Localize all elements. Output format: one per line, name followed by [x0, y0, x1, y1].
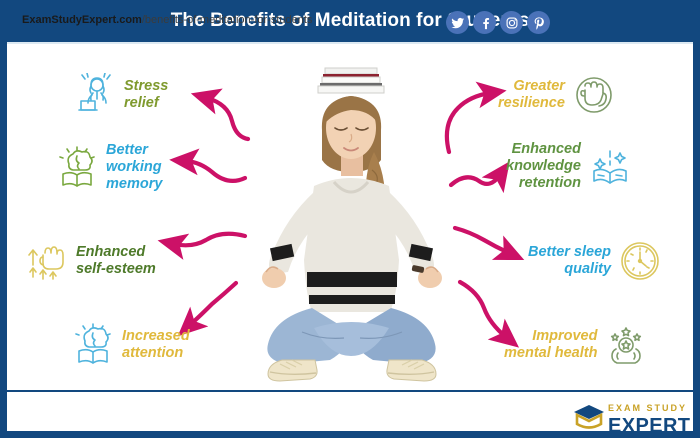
meditating-student-photo — [252, 60, 452, 390]
logo-text: EXAM STUDY EXPERT — [608, 398, 694, 437]
social-links — [446, 11, 550, 34]
footer-url[interactable]: ExamStudyExpert.com/benefits-of-meditati… — [22, 14, 312, 26]
footer-url-brand: ExamStudyExpert.com — [22, 14, 142, 26]
facebook-icon[interactable] — [473, 11, 496, 34]
benefit-label: Enhanced knowledge retention — [506, 141, 581, 192]
brain-book-icon — [54, 145, 100, 191]
infographic-root: The Benefits of Meditation for Students — [0, 0, 700, 438]
stressed-student-laptop-icon — [72, 72, 118, 118]
benefit-better-sleep-quality: Better sleep quality — [528, 238, 663, 284]
benefit-stress-relief: Stress relief — [72, 72, 168, 118]
benefit-label: Better sleep quality — [528, 244, 611, 278]
benefit-increased-attention: Increased attention — [70, 322, 190, 368]
book-stack — [318, 68, 384, 93]
instagram-icon[interactable] — [500, 11, 523, 34]
exam-study-expert-logo[interactable]: EXAM STUDY EXPERT — [572, 396, 694, 434]
frame-hairline — [7, 42, 693, 44]
brain-book-icon — [70, 322, 116, 368]
sneaker-right — [387, 360, 436, 381]
footer-url-path: /benefits-of-meditation-for-students — [142, 14, 313, 26]
sneaker-left — [268, 360, 317, 381]
benefit-enhanced-self-esteem: Enhanced self-esteem — [24, 238, 156, 284]
book-sparkle-icon — [587, 144, 633, 190]
logo-top-text: EXAM STUDY — [608, 403, 687, 413]
benefit-label: Greater resilience — [498, 78, 565, 112]
benefit-knowledge-retention: Enhanced knowledge retention — [506, 141, 633, 192]
fist-circle-icon — [571, 72, 617, 118]
benefit-label: Enhanced self-esteem — [76, 244, 156, 278]
raised-fist-arrows-icon — [24, 238, 70, 284]
benefit-label: Better working memory — [106, 142, 162, 193]
twitter-icon[interactable] — [446, 11, 469, 34]
clock-icon — [617, 238, 663, 284]
benefit-better-working-memory: Better working memory — [54, 142, 162, 193]
graduation-cap-icon — [572, 402, 606, 432]
pinterest-icon[interactable] — [527, 11, 550, 34]
benefit-label: Stress relief — [124, 78, 168, 112]
benefit-label: Improved mental health — [504, 328, 597, 362]
benefit-improved-mental-health: Improved mental health — [504, 322, 649, 368]
logo-bottom-text: EXPERT — [608, 415, 690, 437]
hands-star-medal-icon — [603, 322, 649, 368]
benefit-label: Increased attention — [122, 328, 190, 362]
benefit-greater-resilience: Greater resilience — [498, 72, 617, 118]
